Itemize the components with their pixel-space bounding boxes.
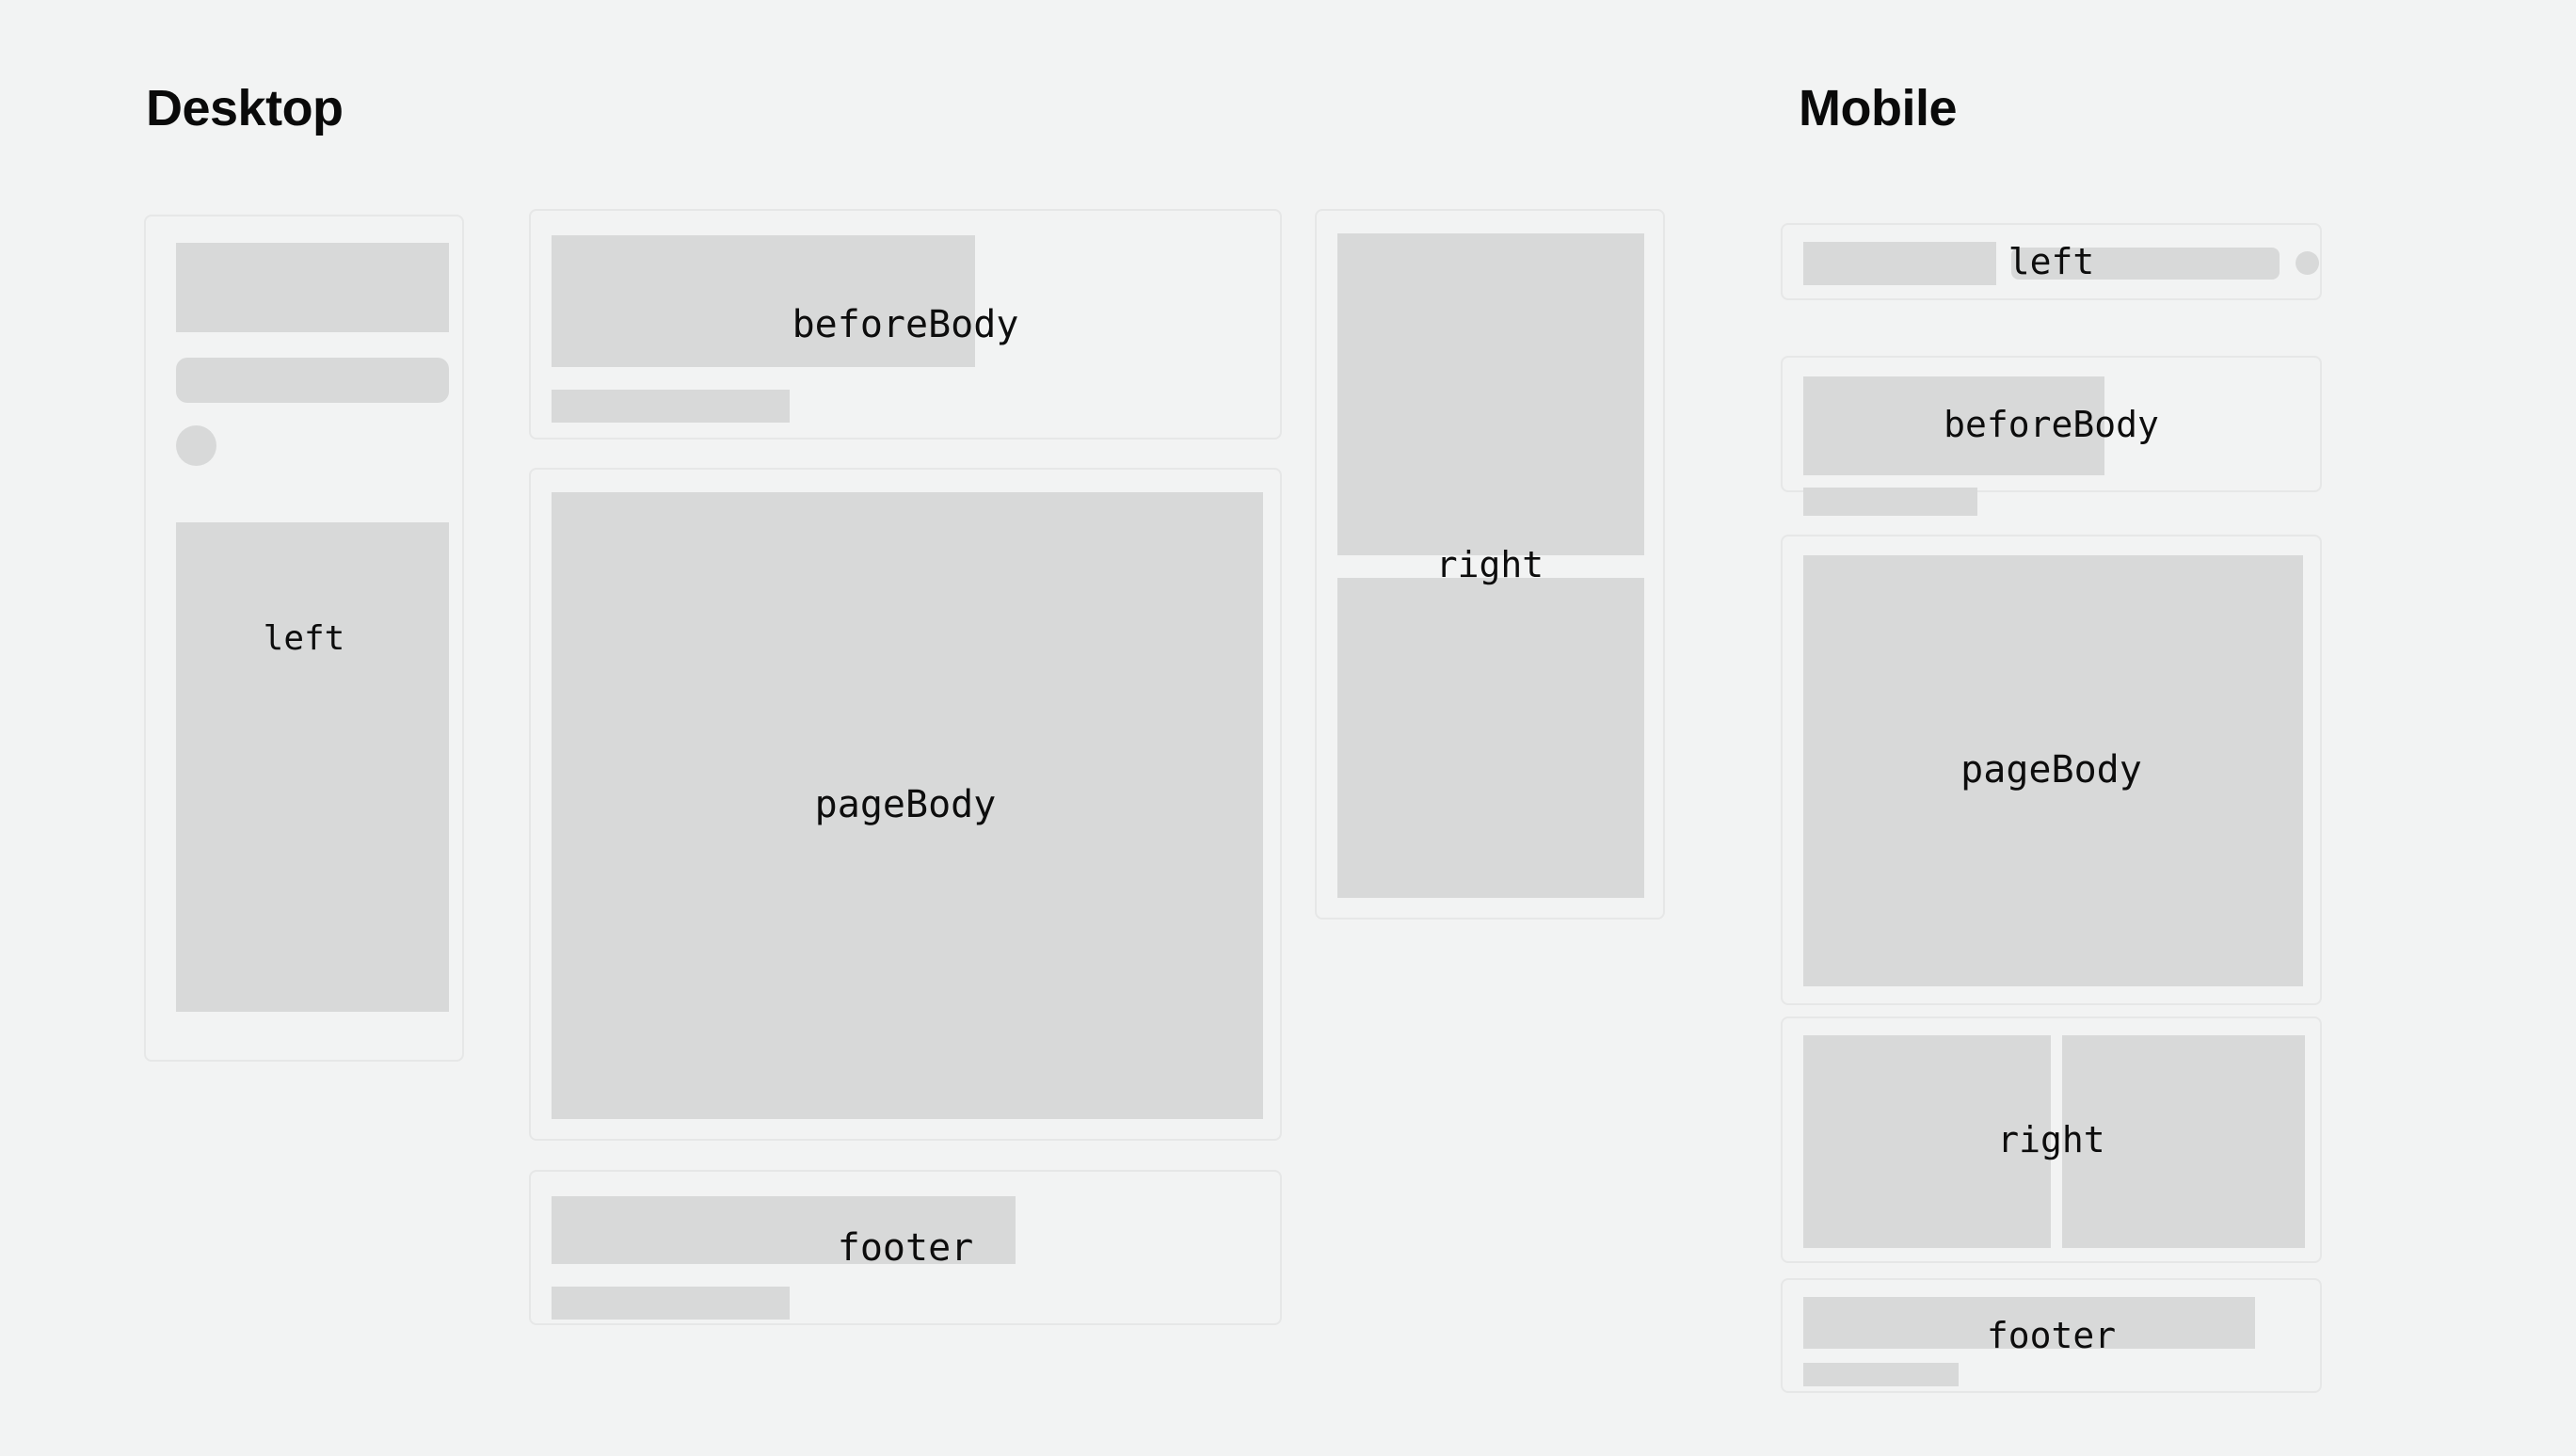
mobile-section-heading: Mobile bbox=[1799, 83, 1957, 134]
placeholder-block bbox=[1803, 376, 2104, 475]
placeholder-block bbox=[552, 235, 975, 367]
placeholder-block-small bbox=[552, 390, 790, 423]
placeholder-block bbox=[1803, 1035, 2051, 1248]
placeholder-block-large bbox=[1803, 555, 2303, 986]
placeholder-block-large bbox=[552, 492, 1263, 1119]
placeholder-block bbox=[1337, 578, 1644, 898]
placeholder-block bbox=[1337, 233, 1644, 555]
desktop-footer-slot-card[interactable] bbox=[529, 1170, 1282, 1325]
mobile-left-slot-card[interactable] bbox=[1781, 223, 2322, 300]
placeholder-block-small bbox=[1803, 488, 1977, 516]
placeholder-block-tall bbox=[176, 522, 449, 1012]
mobile-page-body-slot-card[interactable] bbox=[1781, 535, 2322, 1005]
desktop-before-body-slot-card[interactable] bbox=[529, 209, 1282, 440]
layout-preview-stage: Desktop left beforeBody pageBody footer … bbox=[0, 0, 2576, 1456]
placeholder-block-rounded bbox=[176, 358, 449, 403]
placeholder-block-circle bbox=[2296, 251, 2319, 275]
placeholder-block bbox=[1803, 242, 1996, 285]
placeholder-block bbox=[176, 243, 449, 332]
placeholder-block bbox=[2062, 1035, 2305, 1248]
placeholder-block-small bbox=[1803, 1363, 1959, 1386]
desktop-section-heading: Desktop bbox=[146, 83, 344, 134]
placeholder-block-small bbox=[552, 1287, 790, 1320]
placeholder-block bbox=[552, 1196, 1016, 1264]
desktop-right-slot-card[interactable] bbox=[1315, 209, 1665, 920]
placeholder-block-circle bbox=[176, 425, 216, 466]
mobile-right-slot-card[interactable] bbox=[1781, 1016, 2322, 1263]
mobile-before-body-slot-card[interactable] bbox=[1781, 356, 2322, 492]
mobile-footer-slot-card[interactable] bbox=[1781, 1278, 2322, 1393]
desktop-page-body-slot-card[interactable] bbox=[529, 468, 1282, 1141]
desktop-left-slot-card[interactable] bbox=[144, 215, 464, 1062]
placeholder-block-rounded bbox=[2011, 248, 2280, 280]
placeholder-block bbox=[1803, 1297, 2255, 1349]
